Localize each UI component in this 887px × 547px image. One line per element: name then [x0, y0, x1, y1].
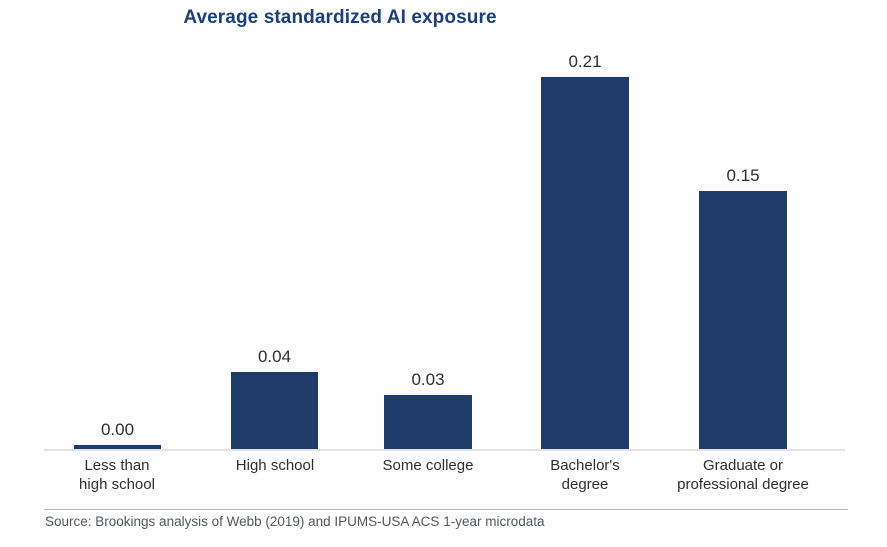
bar[interactable]	[384, 395, 472, 450]
chart-figure: Average standardized AI exposure 0.00 0.…	[0, 0, 887, 547]
bar-value-label: 0.00	[56, 420, 179, 440]
bar-group: 0.04	[231, 0, 318, 451]
x-axis-tick-label: Less than high school	[57, 456, 177, 494]
source-divider	[44, 509, 848, 510]
bar[interactable]	[541, 77, 629, 450]
bar[interactable]	[699, 191, 787, 450]
bar-group: 0.00	[74, 0, 161, 451]
x-axis-tick-label: High school	[215, 456, 335, 475]
x-axis-line	[44, 449, 845, 451]
bar-group: 0.15	[699, 0, 787, 451]
bar-value-label: 0.15	[681, 166, 805, 186]
source-note: Source: Brookings analysis of Webb (2019…	[45, 513, 544, 531]
plot-area: 0.00 0.04 0.03 0.21 0.15	[0, 0, 887, 451]
x-axis-tick-label: Some college	[368, 456, 488, 475]
bar[interactable]	[231, 372, 318, 450]
bar-value-label: 0.04	[213, 347, 336, 367]
x-axis-tick-label: Graduate or professional degree	[663, 456, 823, 494]
bar-value-label: 0.21	[523, 52, 647, 72]
bar-value-label: 0.03	[366, 370, 490, 390]
bar-group: 0.03	[384, 0, 472, 451]
x-axis-tick-label: Bachelor's degree	[525, 456, 645, 494]
bar-group: 0.21	[541, 0, 629, 451]
